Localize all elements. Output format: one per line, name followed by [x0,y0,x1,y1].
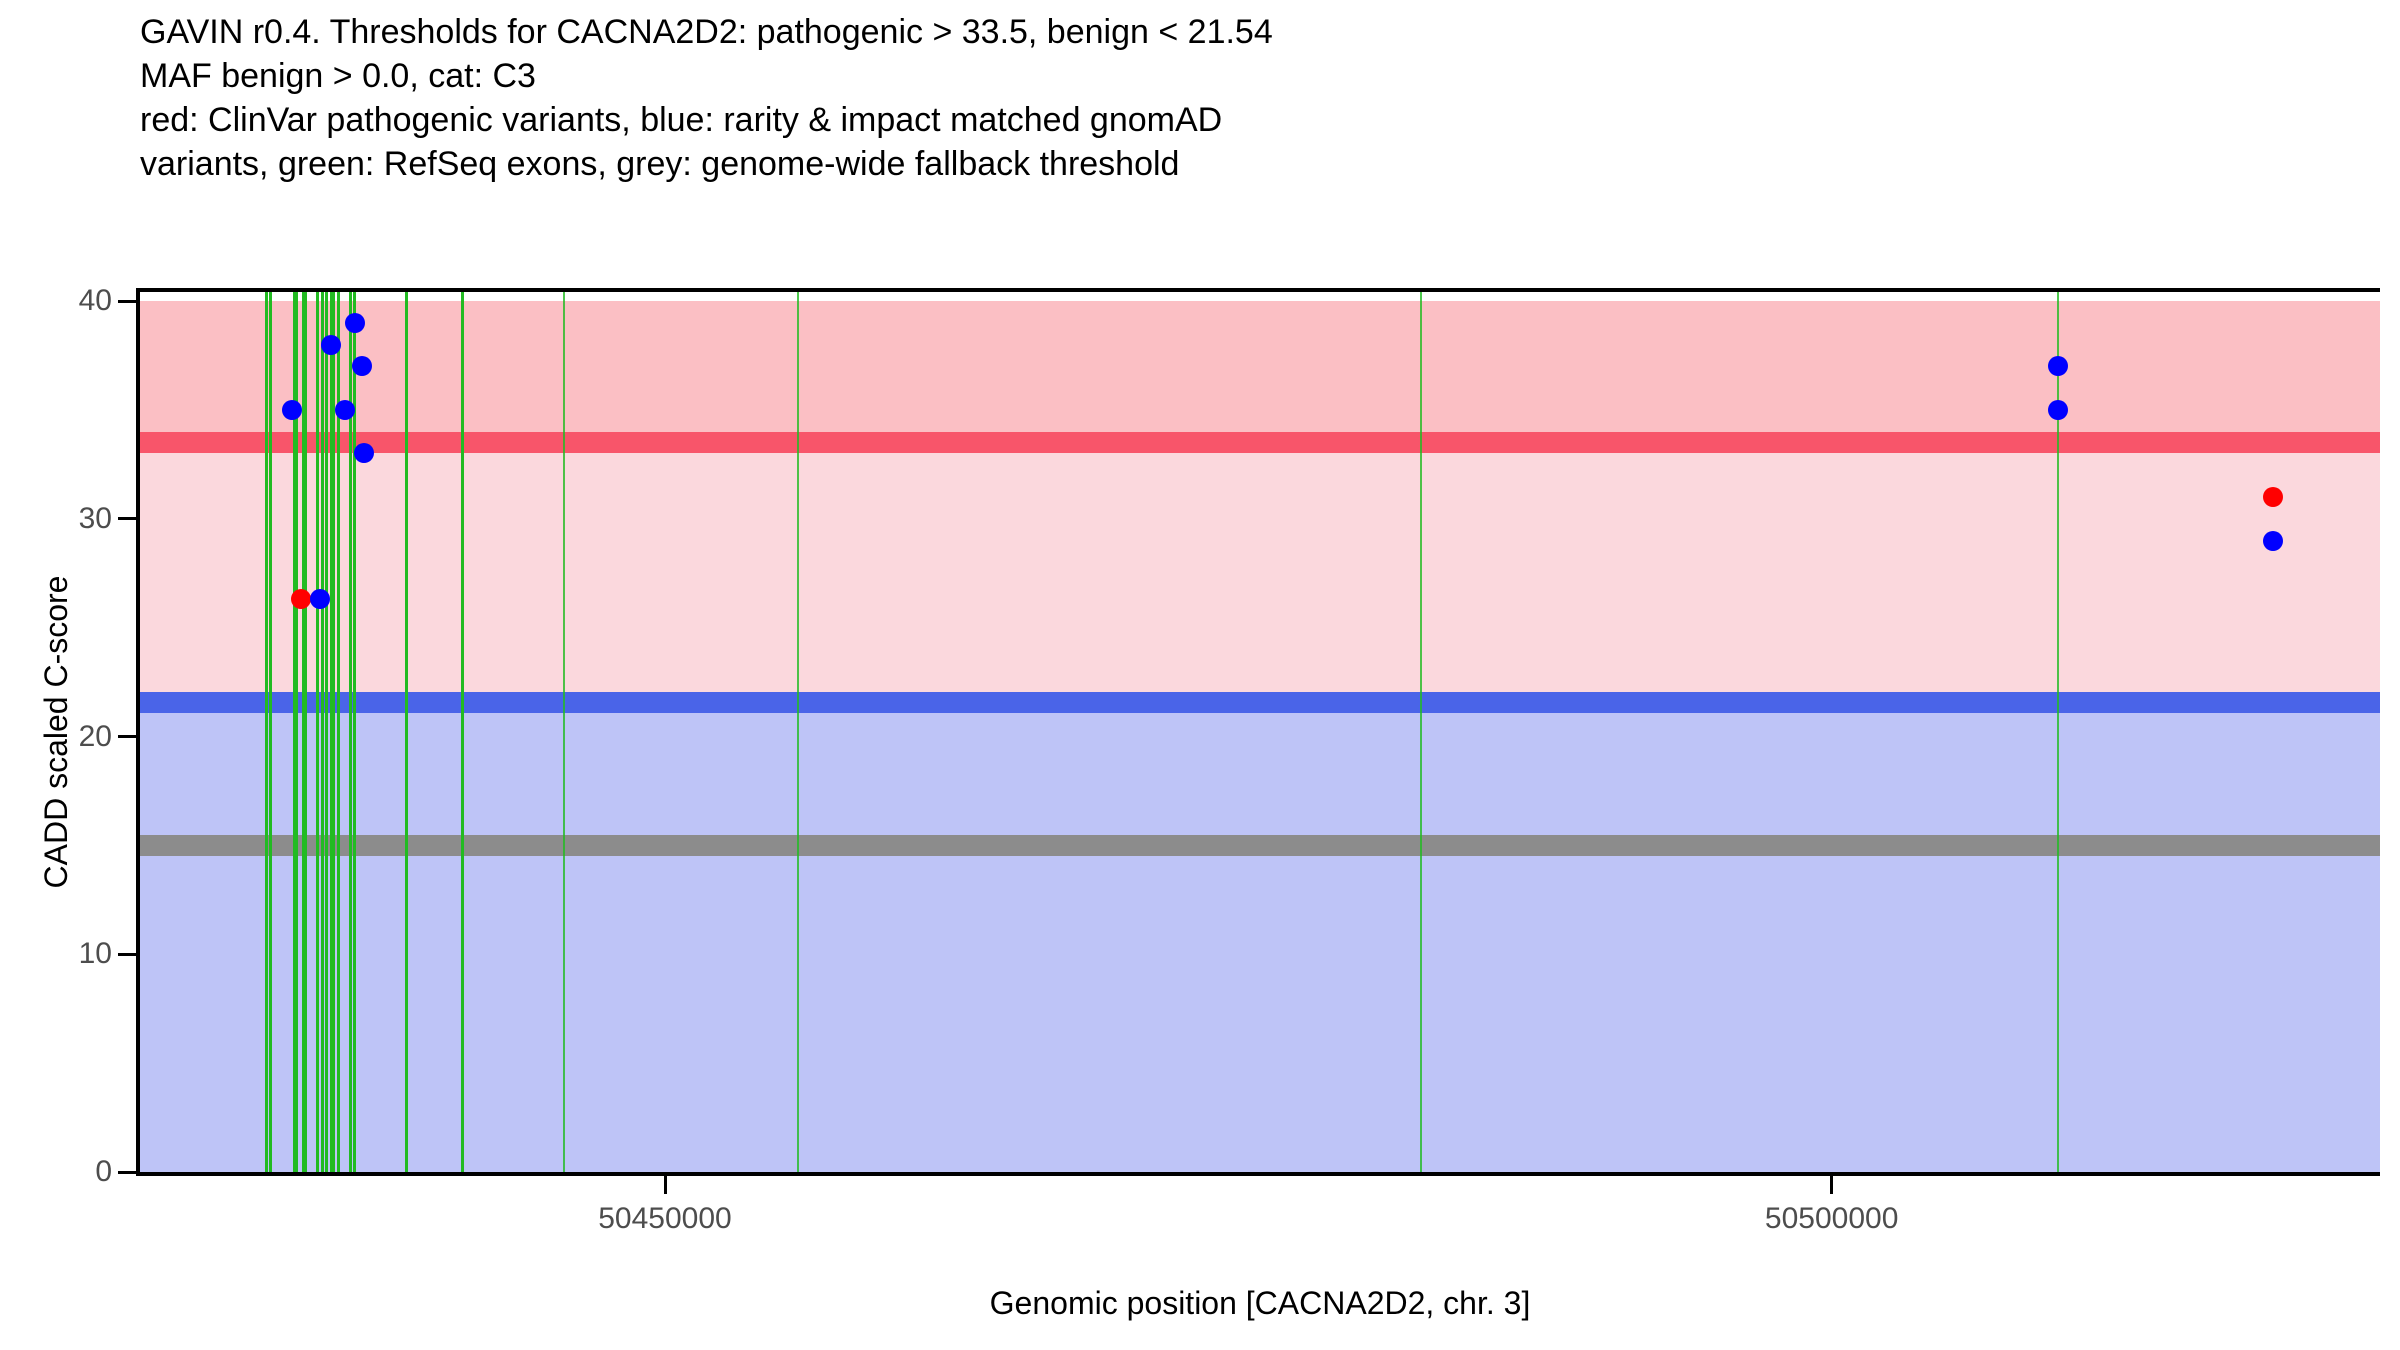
benign-threshold-line [140,692,2380,713]
exon-line [461,290,464,1172]
exon-line [405,290,408,1172]
data-point [282,400,302,420]
benign-region-fill [140,703,2380,1172]
y-axis-tick [118,300,136,303]
y-axis-tick-label: 0 [0,1157,112,1187]
exon-line [332,290,335,1172]
exon-line [265,290,268,1172]
data-point [352,356,372,376]
data-point [345,313,365,333]
y-axis-tick [118,517,136,520]
exon-line [349,290,352,1172]
x-axis-title: Genomic position [CACNA2D2, chr. 3] [140,1285,2380,1322]
y-axis-tick-label: 30 [0,504,112,534]
title-line-3: red: ClinVar pathogenic variants, blue: … [140,98,2340,142]
plot-panel [140,290,2380,1172]
x-axis-tick-label: 50450000 [515,1202,815,1236]
exon-line [797,290,799,1172]
panel-top-border [136,288,2380,292]
vous-region-fill [140,443,2380,703]
y-axis-tick-label: 10 [0,939,112,969]
data-point [2263,487,2283,507]
exon-line [316,290,319,1172]
pathogenic-threshold-line [140,432,2380,453]
data-point [2263,531,2283,551]
x-axis-tick [664,1176,667,1194]
title-line-1: GAVIN r0.4. Thresholds for CACNA2D2: pat… [140,10,2340,54]
exon-line [321,290,324,1172]
plot-layers [140,290,2380,1172]
exon-line [295,290,298,1172]
data-point [2048,400,2068,420]
y-axis-tick [118,735,136,738]
exon-line [2057,290,2059,1172]
data-point [310,589,330,609]
y-axis-tick-label: 20 [0,722,112,752]
exon-line [353,290,356,1172]
x-axis-tick-label: 50500000 [1682,1202,1982,1236]
exon-line [337,290,340,1172]
x-axis-tick [1830,1176,1833,1194]
exon-line [325,290,328,1172]
title-line-2: MAF benign > 0.0, cat: C3 [140,54,2340,98]
y-axis-tick-label: 40 [0,286,112,316]
chart-title-block: GAVIN r0.4. Thresholds for CACNA2D2: pat… [140,10,2340,186]
genome-wide-fallback-line [140,835,2380,856]
pathogenic-region-fill [140,301,2380,443]
x-axis-line [136,1172,2380,1176]
plot-root: GAVIN r0.4. Thresholds for CACNA2D2: pat… [0,0,2400,1350]
exon-line [304,290,307,1172]
title-line-4: variants, green: RefSeq exons, grey: gen… [140,142,2340,186]
exon-line [563,290,565,1172]
y-axis-tick [118,953,136,956]
exon-line [269,290,272,1172]
data-point [321,335,341,355]
y-axis-line [136,288,140,1174]
exon-line [1420,290,1422,1172]
y-axis-tick [118,1171,136,1174]
